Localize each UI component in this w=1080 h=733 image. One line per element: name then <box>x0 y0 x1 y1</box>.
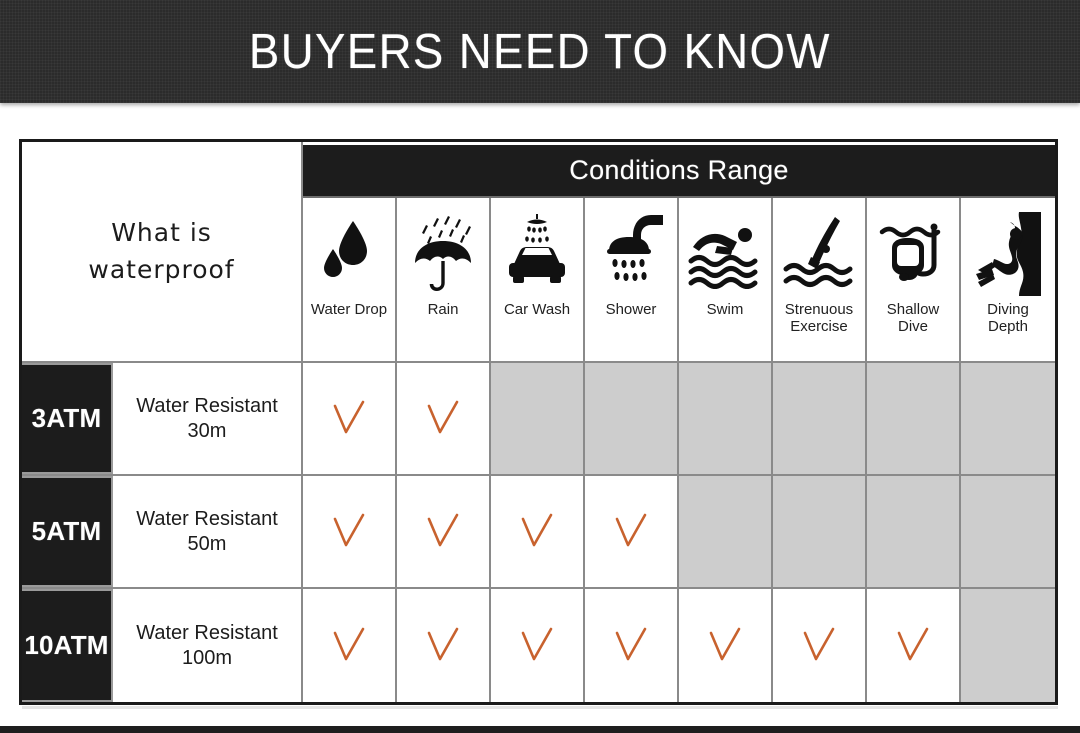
column-header-label: Shallow Dive <box>887 302 940 336</box>
rating-description-cell: Water Resistant 30m <box>113 363 303 474</box>
check-mark-icon <box>426 513 460 551</box>
check-mark-icon <box>614 513 648 551</box>
snorkel-mask-icon <box>869 208 957 300</box>
column-header-strenuous-exercise: Strenuous Exercise <box>773 198 867 361</box>
table-shadow <box>22 706 1058 709</box>
check-mark-icon <box>520 627 554 665</box>
column-header-water-drop: Water Drop <box>303 198 397 361</box>
car-wash-icon <box>493 208 581 300</box>
table-row: 3ATM Water Resistant 30m <box>22 363 1055 476</box>
rating-badge-label: 3ATM <box>32 403 102 434</box>
check-mark-icon <box>614 627 648 665</box>
water-drop-icon <box>305 208 393 300</box>
condition-cell-strenuous-exercise <box>773 589 867 702</box>
column-header-label: Car Wash <box>504 302 570 319</box>
condition-cell-shower <box>585 589 679 702</box>
column-header-car-wash: Car Wash <box>491 198 585 361</box>
shower-icon <box>587 208 675 300</box>
condition-cell-swim <box>679 589 773 702</box>
rating-description: Water Resistant 100m <box>136 621 278 671</box>
rating-description-cell: Water Resistant 100m <box>113 589 303 702</box>
rating-description: Water Resistant 50m <box>136 507 278 557</box>
condition-cell-shallow-dive <box>867 589 961 702</box>
column-header-shallow-dive: Shallow Dive <box>867 198 961 361</box>
condition-cell-swim <box>679 476 773 587</box>
check-mark-icon <box>332 627 366 665</box>
column-header-label: Swim <box>707 302 744 319</box>
condition-cell-shallow-dive <box>867 363 961 474</box>
rating-description: Water Resistant 30m <box>136 394 278 444</box>
scuba-diver-icon <box>964 208 1052 300</box>
column-header-swim: Swim <box>679 198 773 361</box>
table-row: 10ATM Water Resistant 100m <box>22 589 1055 702</box>
swimmer-icon <box>681 208 769 300</box>
condition-cell-rain <box>397 363 491 474</box>
condition-header-row: Water Drop <box>303 198 1055 363</box>
conditions-range-header: Conditions Range <box>303 145 1055 198</box>
table-row: 5ATM Water Resistant 50m <box>22 476 1055 589</box>
table-body: 3ATM Water Resistant 30m 5ATM Water R <box>22 363 1055 702</box>
page-title: BUYERS NEED TO KNOW <box>249 24 831 80</box>
condition-cell-water-drop <box>303 589 397 702</box>
condition-cell-rain <box>397 589 491 702</box>
condition-cell-shower <box>585 476 679 587</box>
check-mark-icon <box>426 400 460 438</box>
check-mark-icon <box>802 627 836 665</box>
umbrella-rain-icon <box>399 208 487 300</box>
condition-cell-water-drop <box>303 363 397 474</box>
conditions-range-label: Conditions Range <box>569 155 788 186</box>
column-header-label: Water Drop <box>311 302 387 319</box>
rating-description-cell: Water Resistant 50m <box>113 476 303 587</box>
row-condition-cells <box>303 589 1055 702</box>
check-mark-icon <box>708 627 742 665</box>
condition-cell-shallow-dive <box>867 476 961 587</box>
condition-cell-car-wash <box>491 363 585 474</box>
condition-cell-rain <box>397 476 491 587</box>
row-condition-cells <box>303 363 1055 474</box>
condition-cell-water-drop <box>303 476 397 587</box>
column-header-label: Rain <box>428 302 459 319</box>
condition-cell-diving-depth <box>961 476 1055 587</box>
rating-badge: 5ATM <box>22 476 113 587</box>
column-header-rain: Rain <box>397 198 491 361</box>
check-mark-icon <box>520 513 554 551</box>
corner-label: What is waterproof <box>88 215 234 288</box>
rating-badge-label: 10ATM <box>24 630 108 661</box>
check-mark-icon <box>426 627 460 665</box>
condition-cell-shower <box>585 363 679 474</box>
condition-cell-car-wash <box>491 589 585 702</box>
condition-cell-strenuous-exercise <box>773 476 867 587</box>
column-header-label: Shower <box>606 302 657 319</box>
rating-badge: 3ATM <box>22 363 113 474</box>
condition-cell-diving-depth <box>961 363 1055 474</box>
column-header-label: Strenuous Exercise <box>785 302 853 336</box>
check-mark-icon <box>332 400 366 438</box>
row-condition-cells <box>303 476 1055 587</box>
page-footer-strip <box>0 726 1080 733</box>
waterproof-rating-table: What is waterproof Conditions Range Wate… <box>19 139 1058 705</box>
check-mark-icon <box>896 627 930 665</box>
condition-cell-strenuous-exercise <box>773 363 867 474</box>
check-mark-icon <box>332 513 366 551</box>
condition-cell-swim <box>679 363 773 474</box>
rating-badge-label: 5ATM <box>32 516 102 547</box>
condition-cell-car-wash <box>491 476 585 587</box>
rating-badge: 10ATM <box>22 589 113 702</box>
page-banner: BUYERS NEED TO KNOW <box>0 0 1080 103</box>
column-header-diving-depth: Diving Depth <box>961 198 1055 361</box>
column-header-shower: Shower <box>585 198 679 361</box>
column-header-label: Diving Depth <box>987 302 1029 336</box>
diver-jump-icon <box>775 208 863 300</box>
condition-cell-diving-depth <box>961 589 1055 702</box>
table-corner-cell: What is waterproof <box>22 142 303 363</box>
